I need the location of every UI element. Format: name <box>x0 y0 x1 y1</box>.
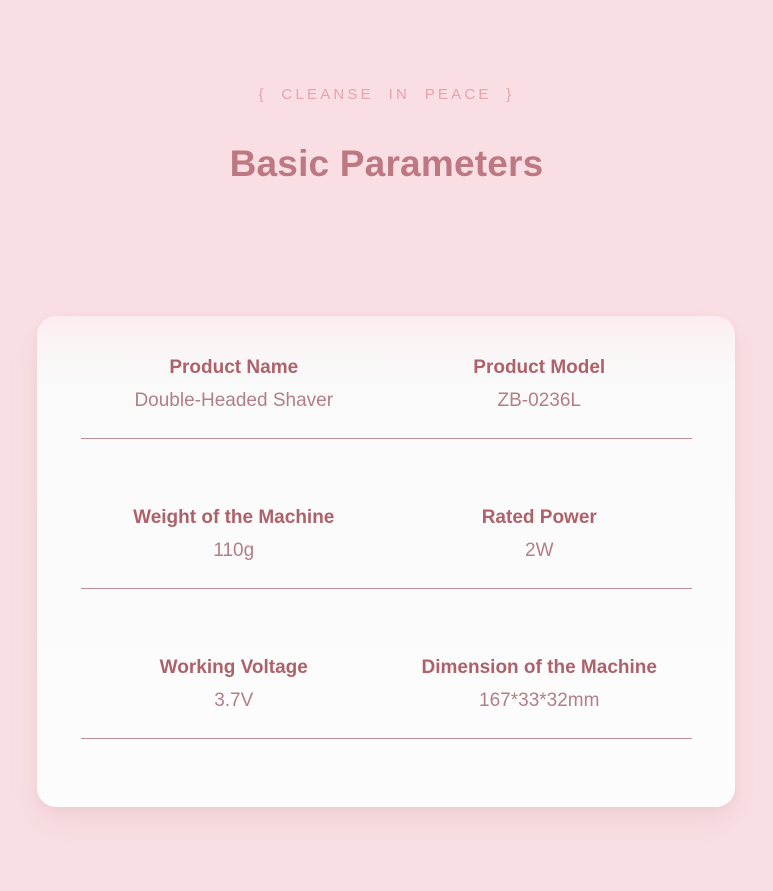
page-header: { CLEANSE IN PEACE } Basic Parameters <box>0 0 773 185</box>
spec-label: Rated Power <box>391 508 689 527</box>
row-divider <box>81 438 692 439</box>
row-divider <box>81 588 692 589</box>
spec-label: Dimension of the Machine <box>391 658 689 677</box>
spacer <box>81 439 692 508</box>
spec-row-group: Working Voltage 3.7V Dimension of the Ma… <box>81 658 692 739</box>
spacer <box>81 710 692 738</box>
spec-cell-left: Working Voltage 3.7V <box>81 658 387 710</box>
table-row: Weight of the Machine 110g Rated Power 2… <box>81 508 692 560</box>
brand-tagline: { CLEANSE IN PEACE } <box>0 86 773 103</box>
spec-value: ZB-0236L <box>391 391 689 410</box>
spec-label: Product Model <box>391 358 689 377</box>
spec-row-group: Product Name Double-Headed Shaver Produc… <box>81 358 692 508</box>
spec-cell-right: Rated Power 2W <box>387 508 693 560</box>
spacer <box>81 589 692 658</box>
product-spec-page: { CLEANSE IN PEACE } Basic Parameters Pr… <box>0 0 773 891</box>
spec-cell-left: Product Name Double-Headed Shaver <box>81 358 387 410</box>
spec-label: Weight of the Machine <box>85 508 383 527</box>
row-divider <box>81 738 692 739</box>
spec-value: 3.7V <box>85 691 383 710</box>
spec-label: Working Voltage <box>85 658 383 677</box>
spec-cell-right: Product Model ZB-0236L <box>387 358 693 410</box>
spec-label: Product Name <box>85 358 383 377</box>
spacer <box>81 410 692 438</box>
spec-cell-right: Dimension of the Machine 167*33*32mm <box>387 658 693 710</box>
spec-value: Double-Headed Shaver <box>85 391 383 410</box>
specs-card: Product Name Double-Headed Shaver Produc… <box>37 316 735 807</box>
page-title: Basic Parameters <box>0 143 773 185</box>
table-row: Product Name Double-Headed Shaver Produc… <box>81 358 692 410</box>
spec-value: 167*33*32mm <box>391 691 689 710</box>
spacer <box>81 560 692 588</box>
spec-row-group: Weight of the Machine 110g Rated Power 2… <box>81 508 692 658</box>
spec-cell-left: Weight of the Machine 110g <box>81 508 387 560</box>
spec-value: 2W <box>391 541 689 560</box>
spec-table: Product Name Double-Headed Shaver Produc… <box>81 358 692 739</box>
spec-value: 110g <box>85 541 383 560</box>
table-row: Working Voltage 3.7V Dimension of the Ma… <box>81 658 692 710</box>
